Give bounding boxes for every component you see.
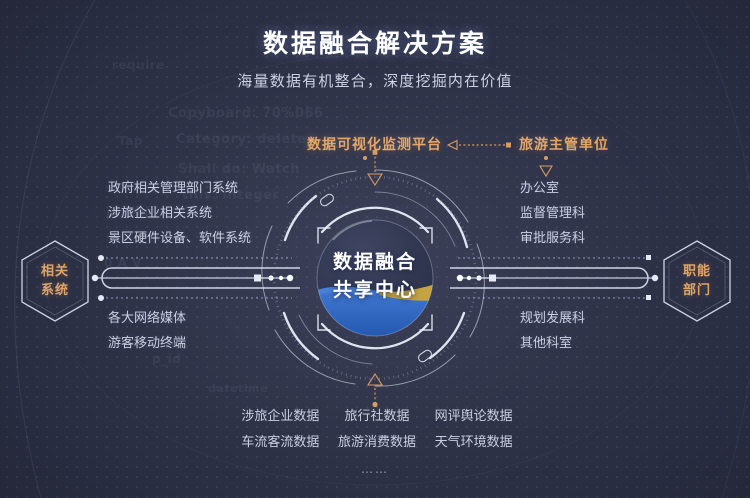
page-subtitle: 海量数据有机整合，深度挖掘内在价值	[0, 70, 750, 91]
top-arrow-icon	[368, 150, 382, 185]
data-category-item: 网评舆论数据	[425, 405, 522, 424]
infographic-canvas: Copyboard: 70%066Category: deleteShall d…	[0, 0, 750, 498]
hexagon-right-line2: 部门	[683, 281, 711, 300]
authority-down-arrow-icon	[540, 156, 552, 176]
bottom-data-grid: 涉旅企业数据旅行社数据网评舆论数据车流客流数据旅游消费数据天气环境数据	[232, 405, 522, 450]
background-code-line: Copyboard: 70%066	[168, 106, 323, 121]
data-category-item: 车流客流数据	[232, 431, 329, 450]
hexagon-related-systems[interactable]: 相关 系统	[18, 238, 92, 324]
bottom-arrow-icon	[368, 374, 382, 407]
hexagon-right-line1: 职能	[683, 262, 711, 281]
list-right-top: 办公室监督管理科审批服务科	[520, 176, 585, 251]
department-item: 监督管理科	[520, 201, 585, 226]
center-hub-label: 数据融合 共享中心	[300, 248, 450, 304]
department-item: 其他科室	[520, 331, 585, 356]
hexagon-left-line2: 系统	[41, 281, 69, 300]
hexagon-functional-departments[interactable]: 职能 部门	[660, 238, 734, 324]
department-item: 审批服务科	[520, 226, 585, 251]
background-code-line: 0 A V	[104, 256, 142, 270]
data-category-item: 涉旅企业数据	[232, 405, 329, 424]
platform-marker-icon	[363, 156, 367, 160]
label-visualization-platform: 数据可视化监测平台	[307, 134, 442, 154]
center-line-1: 数据融合	[300, 248, 450, 276]
background-code-line: Category: delete	[176, 132, 307, 147]
background-code-line: datetime	[208, 382, 268, 395]
list-left-bottom: 各大网络媒体游客移动终端	[108, 306, 186, 356]
list-right-bottom: 规划发展科其他科室	[520, 306, 585, 356]
hexagon-left-line1: 相关	[41, 262, 69, 281]
dotted-arrow-left-icon	[446, 139, 514, 151]
department-item: 办公室	[520, 176, 585, 201]
list-left-top: 政府相关管理部门系统涉旅企业相关系统景区硬件设备、软件系统	[108, 176, 251, 251]
source-system-item: 政府相关管理部门系统	[108, 176, 251, 201]
data-category-item: 天气环境数据	[425, 431, 522, 450]
background-code-line: Tap	[118, 134, 143, 148]
source-channel-item: 各大网络媒体	[108, 306, 186, 331]
source-channel-item: 游客移动终端	[108, 331, 186, 356]
center-line-2: 共享中心	[300, 276, 450, 304]
department-item: 规划发展科	[520, 306, 585, 331]
data-category-item: 旅游消费数据	[329, 431, 426, 450]
page-title: 数据融合解决方案	[0, 24, 750, 60]
bottom-ellipsis: ……	[0, 462, 750, 476]
source-system-item: 景区硬件设备、软件系统	[108, 226, 251, 251]
source-system-item: 涉旅企业相关系统	[108, 201, 251, 226]
label-tourism-authority: 旅游主管单位	[519, 134, 609, 154]
background-code-line: Shall do: Watch	[178, 162, 300, 177]
data-category-item: 旅行社数据	[329, 405, 426, 424]
